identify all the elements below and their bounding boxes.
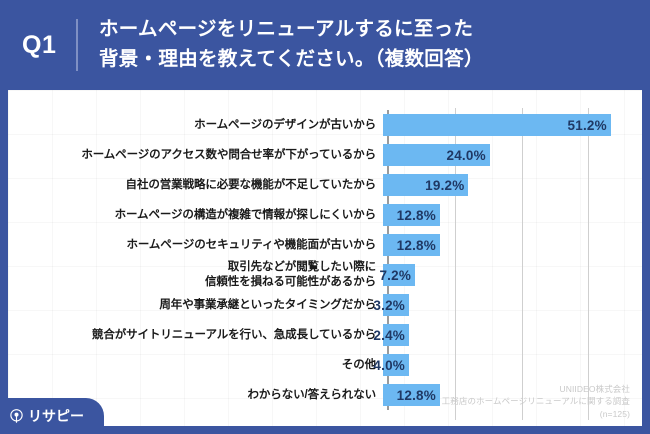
- chart-row: その他4.0%: [8, 350, 642, 380]
- question-title-line-2: 背景・理由を教えてください。（複数回答）: [99, 45, 484, 75]
- chart-row: 周年や事業承継といったタイミングだから3.2%: [8, 290, 642, 320]
- chart-row-label: ホームページのデザインが古いから: [8, 118, 382, 133]
- chart-row-label: ホームページのアクセス数や問合せ率が下がっているから: [8, 148, 382, 163]
- chart-bar-value: 7.2%: [379, 268, 411, 283]
- chart-bar[interactable]: 12.8%: [383, 204, 440, 226]
- chart-bar-area: 2.4%: [382, 320, 642, 350]
- chart-bar[interactable]: 7.2%: [383, 264, 415, 286]
- chart-row: ホームページのアクセス数や問合せ率が下がっているから24.0%: [8, 140, 642, 170]
- chart-bar[interactable]: 4.0%: [383, 354, 409, 376]
- header-divider: [76, 19, 78, 71]
- chart-bar-value: 51.2%: [568, 118, 607, 133]
- chart-bar[interactable]: 51.2%: [383, 114, 611, 136]
- chart-bar-area: 12.8%: [382, 200, 642, 230]
- chart-bar-area: 7.2%: [382, 260, 642, 290]
- chart-row: 自社の営業戦略に必要な機能が不足していたから19.2%: [8, 170, 642, 200]
- chart-bar-value: 12.8%: [397, 238, 436, 253]
- horizontal-bar-chart: ホームページのデザインが古いから51.2%ホームページのアクセス数や問合せ率が下…: [8, 90, 642, 426]
- chart-bar-value: 2.4%: [373, 328, 405, 343]
- brand-logo-text: リサピー: [28, 409, 84, 423]
- chart-row: ホームページのセキュリティや機能面が古いから12.8%: [8, 230, 642, 260]
- chart-bar-value: 12.8%: [397, 208, 436, 223]
- chart-bar[interactable]: 24.0%: [383, 144, 490, 166]
- location-pin-icon: [9, 409, 24, 424]
- chart-bar-value: 4.0%: [373, 358, 405, 373]
- chart-row: 競合がサイトリニューアルを行い、急成長しているから2.4%: [8, 320, 642, 350]
- chart-bar-value: 24.0%: [447, 148, 486, 163]
- chart-bar-area: 4.0%: [382, 350, 642, 380]
- chart-row: 取引先などが閲覧したい際に 信頼性を損ねる可能性があるから7.2%: [8, 260, 642, 290]
- chart-row: ホームページの構造が複雑で情報が探しにくいから12.8%: [8, 200, 642, 230]
- survey-chart-slide: Q1 ホームページをリニューアルするに至った 背景・理由を教えてください。（複数…: [0, 0, 650, 434]
- question-title: ホームページをリニューアルするに至った 背景・理由を教えてください。（複数回答）: [99, 15, 484, 74]
- chart-bar-area: 24.0%: [382, 140, 642, 170]
- brand-logo: リサピー: [0, 398, 104, 434]
- chart-row-label: 自社の営業戦略に必要な機能が不足していたから: [8, 178, 382, 193]
- slide-footer: リサピー: [0, 390, 650, 434]
- chart-bar-value: 19.2%: [425, 178, 464, 193]
- chart-bar-area: 19.2%: [382, 170, 642, 200]
- chart-bar[interactable]: 19.2%: [383, 174, 468, 196]
- chart-bar-area: 3.2%: [382, 290, 642, 320]
- question-title-line-1: ホームページをリニューアルするに至った: [99, 15, 484, 45]
- chart-row-label: その他: [8, 358, 382, 373]
- chart-row-label: 取引先などが閲覧したい際に 信頼性を損ねる可能性があるから: [8, 260, 382, 289]
- chart-panel: ホームページのデザインが古いから51.2%ホームページのアクセス数や問合せ率が下…: [8, 90, 642, 426]
- chart-bar-area: 51.2%: [382, 110, 642, 140]
- chart-row-label: 競合がサイトリニューアルを行い、急成長しているから: [8, 328, 382, 343]
- chart-bar[interactable]: 2.4%: [383, 324, 409, 346]
- chart-row-label: ホームページの構造が複雑で情報が探しにくいから: [8, 208, 382, 223]
- chart-rows: ホームページのデザインが古いから51.2%ホームページのアクセス数や問合せ率が下…: [8, 110, 642, 410]
- chart-bar-value: 3.2%: [373, 298, 405, 313]
- chart-bar[interactable]: 3.2%: [383, 294, 409, 316]
- chart-bar-area: 12.8%: [382, 230, 642, 260]
- question-number: Q1: [22, 33, 76, 58]
- chart-row: ホームページのデザインが古いから51.2%: [8, 110, 642, 140]
- slide-header: Q1 ホームページをリニューアルするに至った 背景・理由を教えてください。（複数…: [0, 0, 650, 90]
- chart-bar[interactable]: 12.8%: [383, 234, 440, 256]
- chart-row-label: ホームページのセキュリティや機能面が古いから: [8, 238, 382, 253]
- chart-row-label: 周年や事業承継といったタイミングだから: [8, 298, 382, 313]
